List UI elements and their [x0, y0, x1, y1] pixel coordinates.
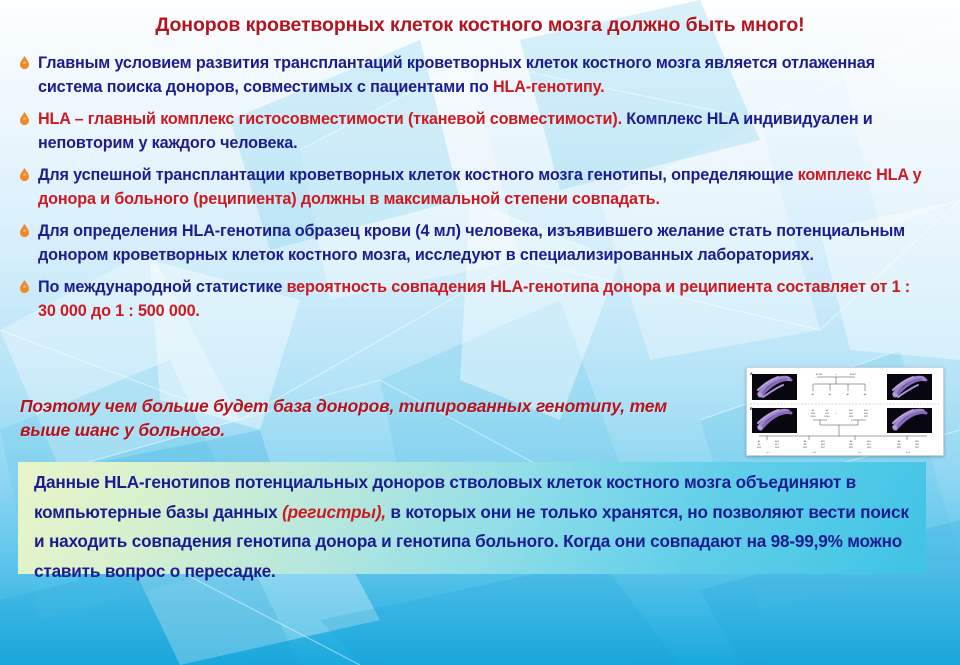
chromosome-micrograph-a-right — [887, 374, 932, 400]
bullet-5-segment-1: По международной статистике — [38, 278, 287, 296]
chromosome-micrograph-b-right — [887, 408, 932, 433]
bullet-item-5: По международной статистике вероятность … — [18, 276, 926, 323]
bullet-1-segment-1: Главным условием развития трансплантаций… — [38, 54, 875, 96]
hla-haplotype-pedigree-figure: A — [746, 367, 944, 456]
drop-bullet-icon — [20, 224, 29, 237]
highlight-note-text: Данные HLA-генотипов потенциальных донор… — [34, 468, 914, 586]
bullet-item-3: Для успешной трансплантации кроветворных… — [18, 164, 926, 211]
svg-text:A3 B7: A3 B7 — [850, 373, 857, 376]
svg-text:b, c: b, c — [858, 452, 861, 454]
bullet-2-segment-1: HLA – главный комплекс гистосовместимост… — [38, 110, 626, 128]
bullet-1-segment-2: HLA-генотипу. — [493, 78, 604, 96]
drop-bullet-icon — [20, 168, 29, 181]
svg-text:DQb1: DQb1 — [824, 416, 830, 418]
bullet-item-4: Для определения HLA-генотипа образец кро… — [18, 220, 926, 267]
bullet-item-2: HLA – главный комплекс гистосовместимост… — [18, 108, 926, 155]
slide-title: Доноров кроветворных клеток костного моз… — [0, 14, 960, 37]
bullet-list: Главным условием развития трансплантаций… — [18, 52, 926, 332]
svg-text:DRb1: DRb1 — [810, 416, 816, 418]
drop-bullet-icon — [20, 280, 29, 293]
bullet-3-segment-1: Для успешной трансплантации кроветворных… — [38, 166, 798, 184]
italic-conclusion-text: Поэтому чем больше будет база доноров, т… — [20, 394, 720, 442]
bullet-4-segment-1: Для определения HLA-генотипа образец кро… — [38, 222, 905, 264]
drop-bullet-icon — [20, 112, 29, 125]
chromosome-micrograph-b-left — [752, 408, 797, 433]
drop-bullet-icon — [20, 56, 29, 69]
svg-text:A1 B8: A1 B8 — [816, 373, 823, 376]
bullet-item-1: Главным условием развития трансплантаций… — [18, 52, 926, 99]
note-text-registry: (регистры), — [282, 502, 386, 522]
slide-canvas: Доноров кроветворных клеток костного моз… — [0, 0, 960, 665]
chromosome-micrograph-a-left — [752, 374, 797, 400]
svg-text:a, c: a, c — [766, 452, 769, 454]
